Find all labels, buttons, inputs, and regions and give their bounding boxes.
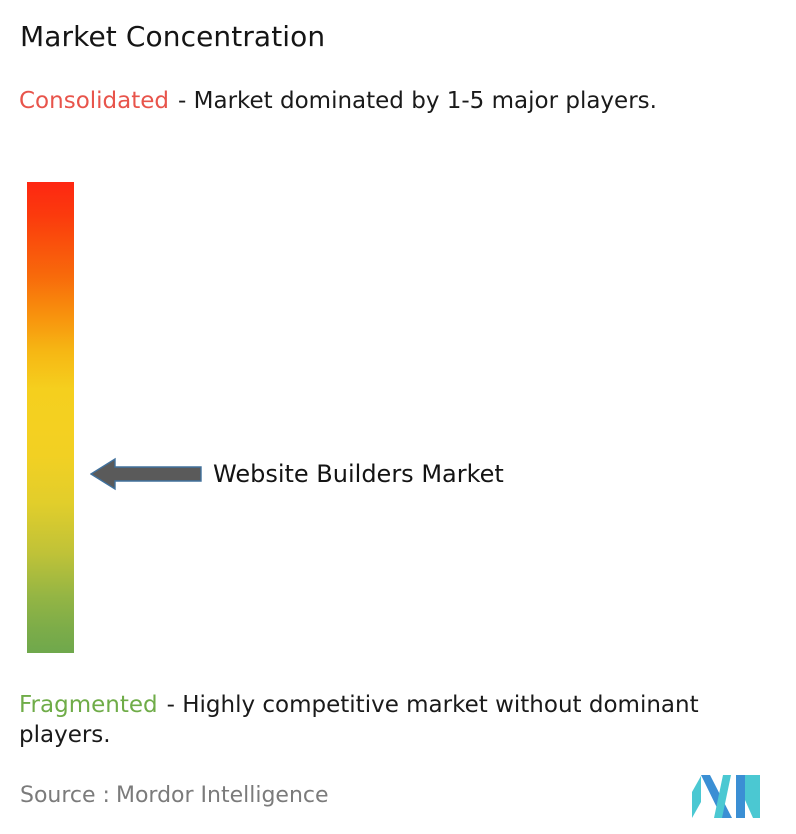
legend-consolidated-description: - Market dominated by 1-5 major players. [178, 88, 657, 114]
source-label: Source : [20, 783, 110, 808]
market-position-label: Website Builders Market [213, 460, 504, 488]
legend-consolidated: Consolidated- Market dominated by 1-5 ma… [19, 86, 775, 116]
source-attribution: Source :Mordor Intelligence [20, 782, 329, 810]
legend-consolidated-keyword: Consolidated [19, 88, 169, 114]
mordor-intelligence-logo [692, 772, 760, 820]
page-title: Market Concentration [20, 20, 325, 54]
chart-canvas: Market Concentration Consolidated- Marke… [0, 0, 796, 834]
market-concentration-scale-bar [27, 182, 74, 653]
source-value: Mordor Intelligence [116, 783, 329, 808]
left-arrow-icon [90, 455, 202, 493]
market-position-marker: Website Builders Market [90, 455, 504, 493]
legend-fragmented-keyword: Fragmented [19, 692, 158, 718]
legend-fragmented: Fragmented- Highly competitive market wi… [19, 690, 789, 750]
